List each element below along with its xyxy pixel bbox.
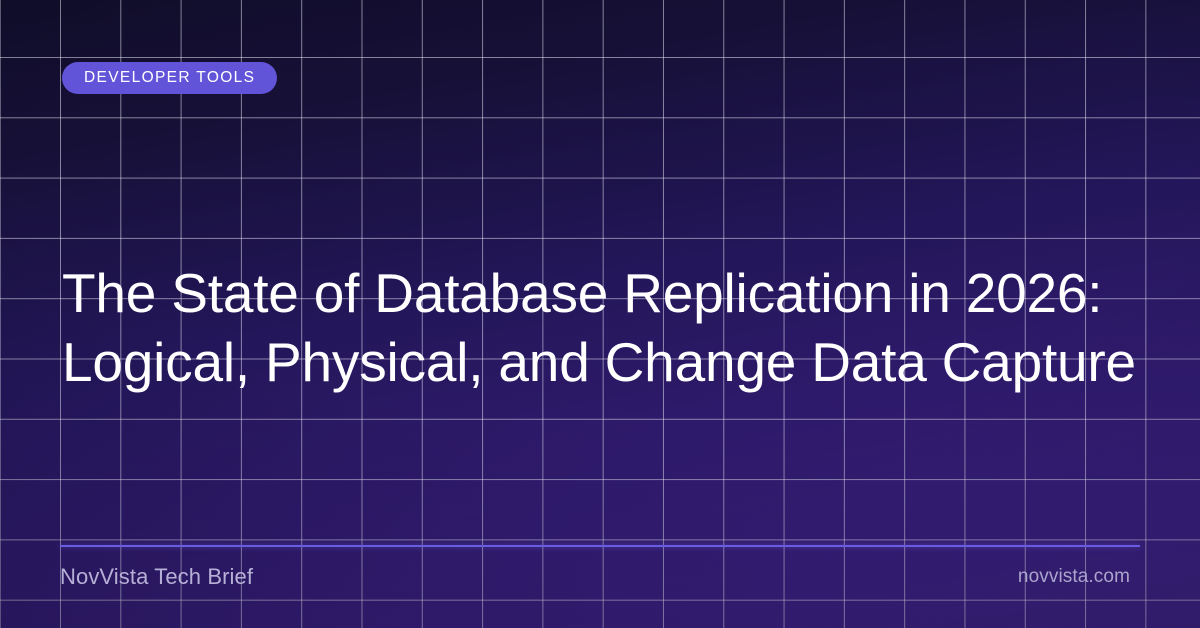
page-title: The State of Database Replication in 202…: [62, 259, 1152, 397]
category-badge-label: DEVELOPER TOOLS: [84, 69, 255, 87]
category-badge: DEVELOPER TOOLS: [62, 62, 277, 94]
page-title-line-1: The State of Database Replication in 202…: [62, 259, 1152, 328]
social-card: DEVELOPER TOOLS The State of Database Re…: [0, 0, 1200, 628]
footer-domain: novvista.com: [1018, 566, 1130, 588]
footer-brand: NovVista Tech Brief: [60, 564, 253, 590]
page-title-line-2: Logical, Physical, and Change Data Captu…: [62, 328, 1152, 397]
footer-divider: [60, 545, 1140, 547]
